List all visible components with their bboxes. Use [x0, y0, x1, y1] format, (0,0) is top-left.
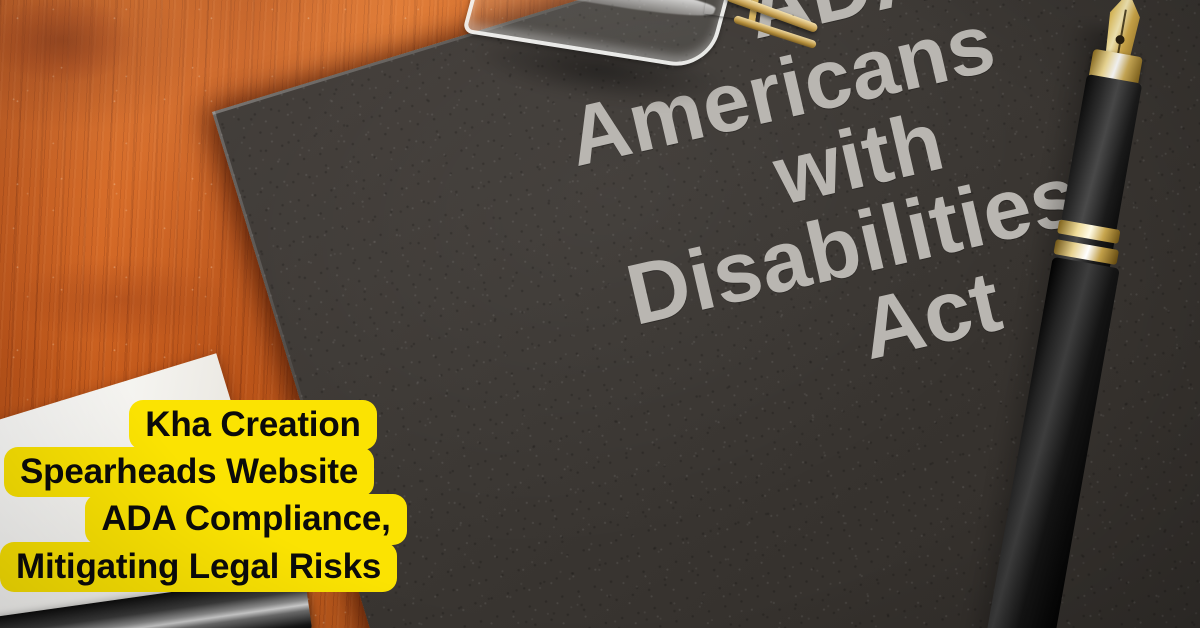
- headline-line-1: Kha Creation: [129, 400, 376, 450]
- headline-line-2: Spearheads Website: [4, 447, 374, 497]
- headline-line-4: Mitigating Legal Risks: [0, 542, 397, 592]
- eyeglasses: [440, 0, 800, 94]
- promo-banner: ADA Americans with Disabilities Act Kha …: [0, 0, 1200, 628]
- headline-overlay: Kha Creation Spearheads Website ADA Comp…: [0, 400, 470, 589]
- headline-line-3: ADA Compliance,: [85, 494, 406, 544]
